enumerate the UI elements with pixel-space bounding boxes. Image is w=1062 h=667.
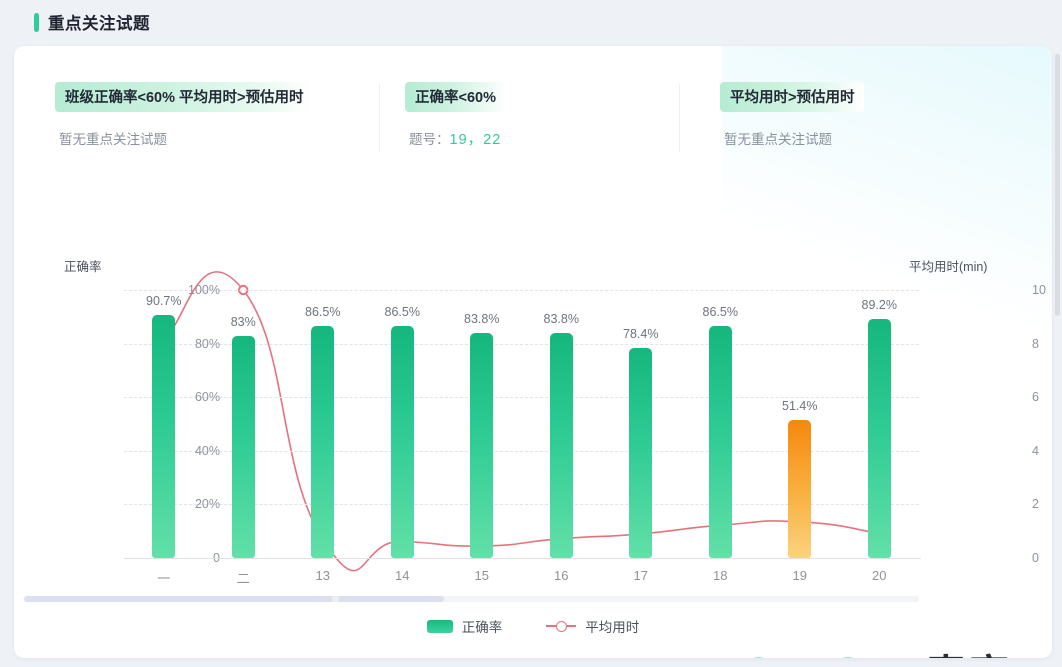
question-label: 题号： <box>409 132 450 147</box>
y-axis-tick-right: 2 <box>1032 497 1052 511</box>
bar-19[interactable] <box>788 420 811 558</box>
bar-value-label: 86.5% <box>703 305 738 319</box>
bar-18[interactable] <box>709 326 732 558</box>
datazoom-grip-icon[interactable] <box>332 596 339 602</box>
focus-panel-avg-time: 平均用时>预估用时 暂无重点关注试题 <box>680 82 1010 162</box>
qinglu-watermark-logo: QINGLU 青鹿 <box>740 642 1009 658</box>
bar-value-label: 90.7% <box>146 294 181 308</box>
page-title: 重点关注试题 <box>48 10 150 34</box>
accent-bar-icon <box>34 13 39 32</box>
bar-value-label: 86.5% <box>305 305 340 319</box>
chart-legend: 正确率 平均用时 <box>14 616 1052 636</box>
y-axis-tick-right: 8 <box>1032 337 1052 351</box>
legend-swatch-icon <box>427 620 453 633</box>
bar-17[interactable] <box>629 348 652 558</box>
y-axis-tick-right: 6 <box>1032 390 1052 404</box>
focus-panel-accuracy: 正确率<60% 题号：19，22 <box>380 82 680 162</box>
bar-13[interactable] <box>311 326 334 558</box>
focus-tag-label: 正确率<60% <box>405 82 506 112</box>
legend-item-avg-time[interactable]: 平均用时 <box>546 616 639 636</box>
focus-panels: 班级正确率<60% 平均用时>预估用时 暂无重点关注试题 正确率<60% 题号：… <box>55 82 1015 162</box>
bar-value-label: 78.4% <box>623 327 658 341</box>
bar-一[interactable] <box>152 315 175 558</box>
focus-panel-question-list: 题号：19，22 <box>405 128 680 149</box>
x-axis-label-13: 13 <box>316 568 330 583</box>
bar-16[interactable] <box>550 333 573 558</box>
x-axis-label-17: 17 <box>634 568 648 583</box>
accuracy-time-chart: 正确率 平均用时(min) 0020%240%460%680%8100%1090… <box>14 196 1052 658</box>
bar-15[interactable] <box>470 333 493 558</box>
legend-label: 平均用时 <box>585 616 639 636</box>
focus-panel-class-accuracy-and-time: 班级正确率<60% 平均用时>预估用时 暂无重点关注试题 <box>55 82 380 162</box>
legend-line-icon <box>546 621 576 631</box>
bar-value-label: 83.8% <box>544 312 579 326</box>
x-axis-label-18: 18 <box>713 568 727 583</box>
x-axis-label-20: 20 <box>872 568 886 583</box>
x-axis-label-二: 二 <box>237 568 250 587</box>
x-axis-label-一: 一 <box>157 568 170 587</box>
bar-14[interactable] <box>391 326 414 558</box>
logo-en-text: QINGLU <box>740 650 923 658</box>
focus-panel-empty-text: 暂无重点关注试题 <box>55 128 380 148</box>
section-header: 重点关注试题 <box>34 10 150 34</box>
x-axis-label-15: 15 <box>475 568 489 583</box>
avg-time-line-path <box>164 272 880 571</box>
focus-tag-label: 平均用时>预估用时 <box>720 82 864 112</box>
focus-tag-label: 班级正确率<60% 平均用时>预估用时 <box>55 82 313 112</box>
bar-value-label: 86.5% <box>385 305 420 319</box>
y-axis-tick-right: 0 <box>1032 551 1052 565</box>
bar-二[interactable] <box>232 336 255 558</box>
bar-value-label: 83.8% <box>464 312 499 326</box>
x-axis-line <box>124 558 921 559</box>
datazoom-handle[interactable] <box>24 596 444 602</box>
page-scrollbar[interactable] <box>1055 54 1060 316</box>
x-axis-label-14: 14 <box>395 568 409 583</box>
bar-value-label: 83% <box>231 315 256 329</box>
y-axis-tick-right: 4 <box>1032 444 1052 458</box>
bar-20[interactable] <box>868 319 891 558</box>
y-axis-title-left: 正确率 <box>64 256 102 275</box>
y-axis-tick-right: 10 <box>1032 283 1052 297</box>
plot-area: 0020%240%460%680%8100%1090.7%83%86.5%86.… <box>124 290 919 558</box>
logo-cn-text: 青鹿 <box>925 642 1009 658</box>
legend-item-accuracy[interactable]: 正确率 <box>427 616 503 636</box>
x-axis-label-19: 19 <box>793 568 807 583</box>
focus-panel-empty-text: 暂无重点关注试题 <box>720 128 1010 148</box>
gridline <box>124 290 919 291</box>
page-root: 重点关注试题 班级正确率<60% 平均用时>预估用时 暂无重点关注试题 正确率<… <box>0 0 1062 667</box>
legend-label: 正确率 <box>462 616 503 636</box>
y-axis-title-right: 平均用时(min) <box>909 256 987 275</box>
focus-questions-card: 班级正确率<60% 平均用时>预估用时 暂无重点关注试题 正确率<60% 题号：… <box>14 46 1052 658</box>
question-numbers[interactable]: 19，22 <box>450 132 502 148</box>
x-axis-label-16: 16 <box>554 568 568 583</box>
bar-value-label: 89.2% <box>862 298 897 312</box>
bar-value-label: 51.4% <box>782 399 817 413</box>
